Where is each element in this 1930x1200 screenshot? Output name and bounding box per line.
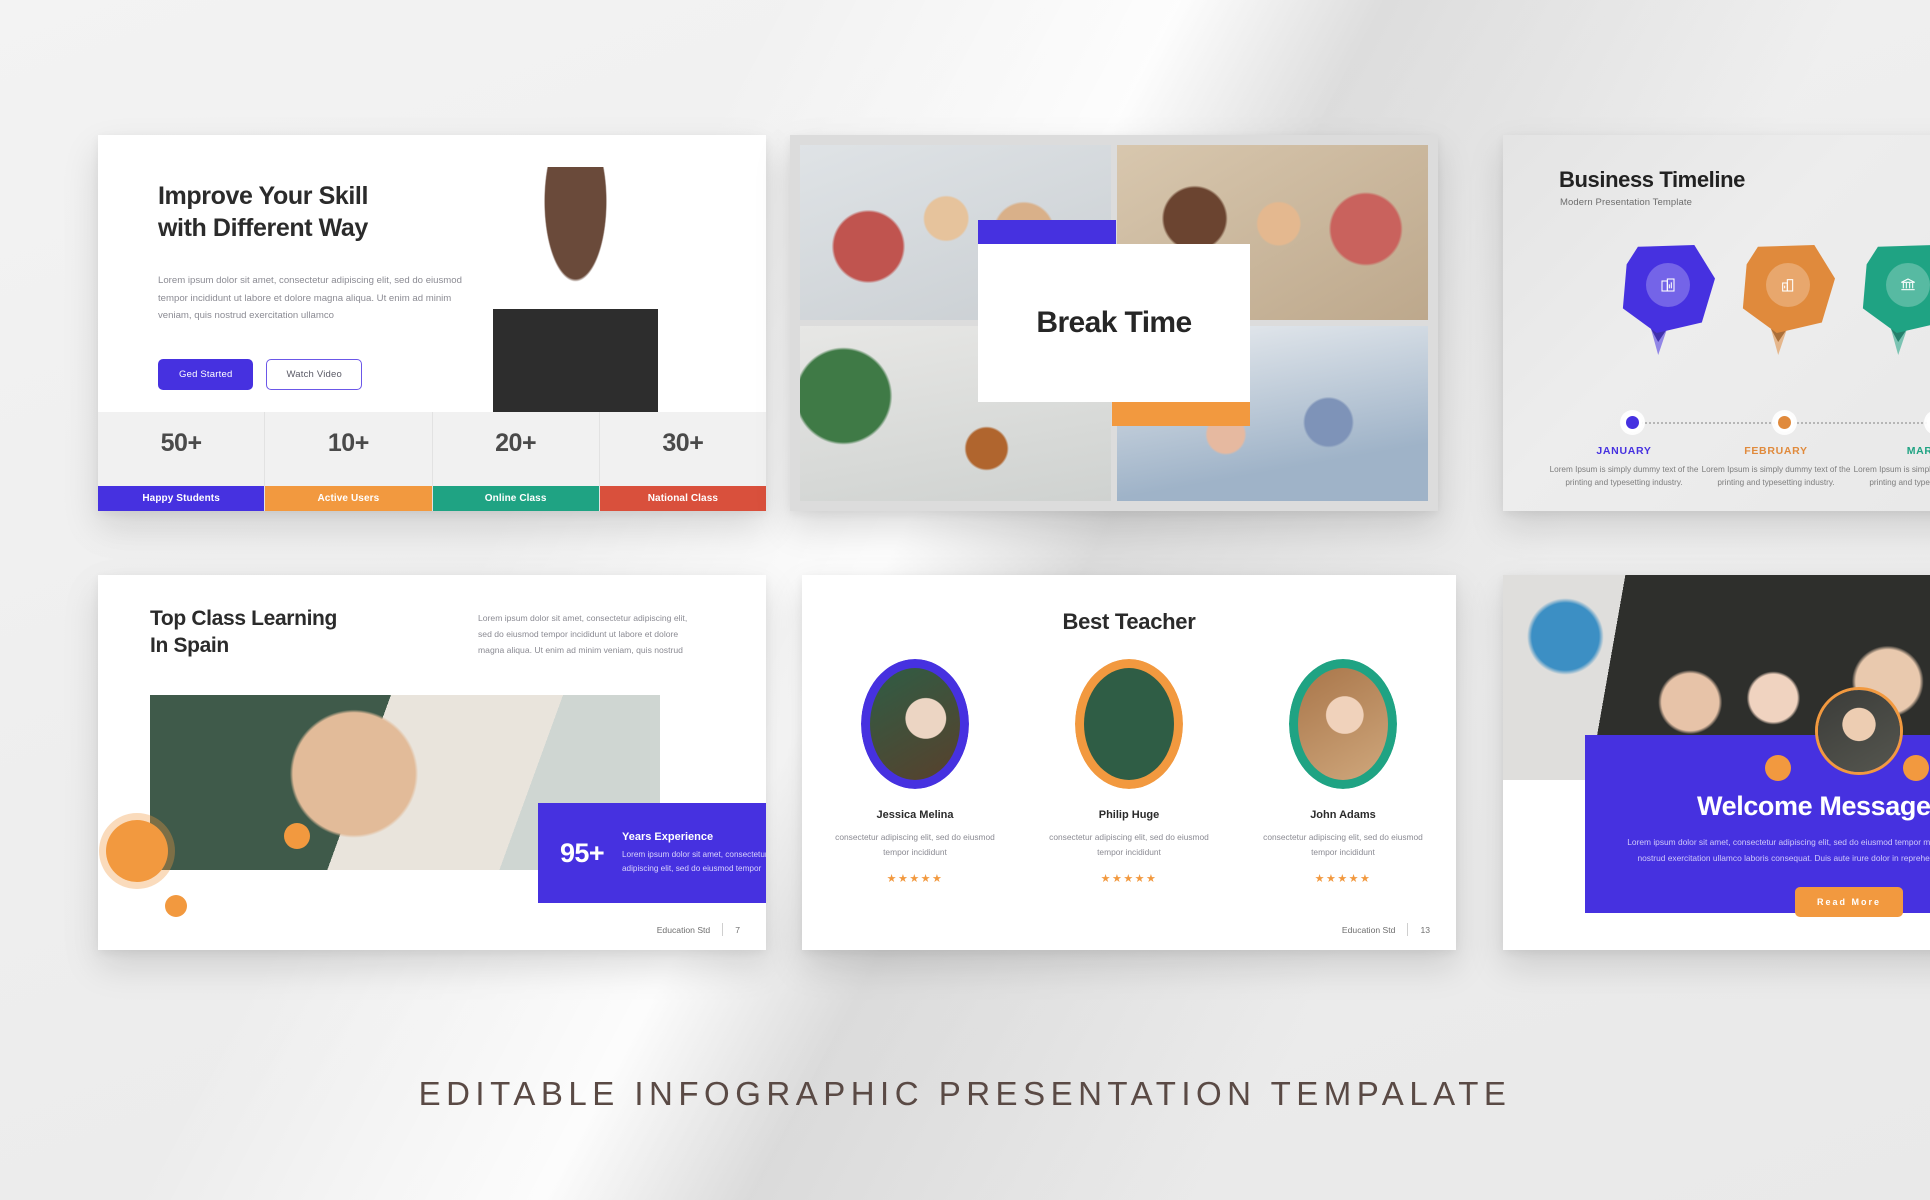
poster-stage: Improve Your Skill with Different Way Lo… [0,0,1930,1200]
teacher-avatar-photo [1084,668,1174,780]
teacher-name: John Adams [1263,809,1423,821]
experience-copy: Years Experience Lorem ipsum dolor sit a… [622,831,766,875]
footer-divider [722,923,723,936]
timeline-step-text: Lorem Ipsum is simply dummy text of the … [1853,463,1930,489]
spain-footer: Education Std 7 [657,923,740,936]
avatar-teacher [1815,687,1903,775]
teacher-avatar [1289,659,1397,789]
teacher-rating-stars: ★★★★★ [835,872,995,885]
building-chart-icon [1646,263,1690,307]
slide-skill-button-row: Ged Started Watch Video [158,359,362,390]
spain-footer-brand: Education Std [657,925,711,935]
ged-started-button[interactable]: Ged Started [158,359,253,390]
stat-cell: 20+Online Class [432,412,599,511]
welcome-title: Welcome Message [1697,791,1930,822]
slide-skill-title-line2: with Different Way [158,214,368,242]
slide-welcome-message[interactable]: Welcome Message Lorem ipsum dolor sit am… [1503,575,1930,950]
timeline-axis-dot[interactable] [1623,413,1642,432]
bank-icon [1886,263,1930,307]
decor-dot-right [1903,755,1929,781]
stat-cell: 50+Happy Students [98,412,264,511]
timeline-step-column: MARCHLorem Ipsum is simply dummy text of… [1853,445,1930,489]
timeline-pin-row [1503,245,1930,360]
timeline-step-text: Lorem Ipsum is simply dummy text of the … [1701,463,1851,489]
timeline-month: FEBRUARY [1701,445,1851,457]
teacher-card[interactable]: Jessica Melinaconsectetur adipiscing eli… [835,659,995,885]
break-time-card: Break Time [978,244,1250,402]
stat-label: Online Class [433,486,599,511]
slide-top-class-learning[interactable]: Top Class Learning In Spain Lorem ipsum … [98,575,766,950]
stat-value: 10+ [328,429,369,458]
timeline-step-column: FEBRUARYLorem Ipsum is simply dummy text… [1701,445,1851,489]
decor-circle-large [106,820,168,882]
break-time-title: Break Time [1036,306,1191,340]
teacher-name: Jessica Melina [835,809,995,821]
teacher-avatar [1075,659,1183,789]
timeline-step-column: JANUARYLorem Ipsum is simply dummy text … [1549,445,1699,489]
teacher-avatar-photo [1298,668,1388,780]
teacher-avatar-photo [870,668,960,780]
stat-label: National Class [600,486,766,511]
welcome-paragraph: Lorem ipsum dolor sit amet, consectetur … [1625,835,1930,867]
stat-label: Happy Students [98,486,264,511]
teacher-rating-stars: ★★★★★ [1263,872,1423,885]
experience-number: 95+ [560,838,604,869]
teacher-card[interactable]: Philip Hugeconsectetur adipiscing elit, … [1049,659,1209,885]
break-card-purple-tab [978,220,1116,244]
stat-label: Active Users [265,486,431,511]
decor-circle-small [165,895,187,917]
teacher-card-row: Jessica Melinaconsectetur adipiscing eli… [802,659,1456,885]
experience-text: Lorem ipsum dolor sit amet, consectetur … [622,848,766,875]
stat-value: 20+ [495,429,536,458]
teacher-description: consectetur adipiscing elit, sed do eius… [1263,830,1423,859]
slide-break-time[interactable]: Break Time [790,135,1438,511]
stat-value: 50+ [161,429,202,458]
slide-skill-paragraph: Lorem ipsum dolor sit amet, consectetur … [158,272,478,325]
spain-title-line1: Top Class Learning [150,607,337,630]
building-icon [1766,263,1810,307]
timeline-axis-dot[interactable] [1775,413,1794,432]
slide-skill-body: Improve Your Skill with Different Way Lo… [98,135,766,412]
read-more-button[interactable]: Read More [1795,887,1903,917]
teacher-footer: Education Std 13 [1342,923,1430,936]
stat-cell: 30+National Class [599,412,766,511]
experience-heading: Years Experience [622,831,766,843]
timeline-step-text: Lorem Ipsum is simply dummy text of the … [1549,463,1699,489]
timeline-axis [1503,413,1930,433]
slide-skill-title-line1: Improve Your Skill [158,182,368,210]
spain-paragraph: Lorem ipsum dolor sit amet, consectetur … [478,611,703,659]
years-experience-box: 95+ Years Experience Lorem ipsum dolor s… [538,803,766,903]
teacher-name: Philip Huge [1049,809,1209,821]
teacher-description: consectetur adipiscing elit, sed do eius… [835,830,995,859]
footer-divider [1407,923,1408,936]
teacher-footer-page: 13 [1420,925,1430,935]
teacher-footer-brand: Education Std [1342,925,1396,935]
timeline-pin[interactable] [1621,245,1715,333]
slide-best-teacher[interactable]: Best Teacher Jessica Melinaconsectetur a… [802,575,1456,950]
best-teacher-title: Best Teacher [802,609,1456,635]
timeline-subtitle: Modern Presentation Template [1560,197,1692,208]
timeline-pin[interactable] [1741,245,1835,333]
teacher-description: consectetur adipiscing elit, sed do eius… [1049,830,1209,859]
poster-caption: EDITABLE INFOGRAPHIC PRESENTATION TEMPAL… [0,1075,1930,1113]
spain-title: Top Class Learning In Spain [150,605,337,660]
slide-improve-your-skill[interactable]: Improve Your Skill with Different Way Lo… [98,135,766,511]
teacher-rating-stars: ★★★★★ [1049,872,1209,885]
spain-footer-page: 7 [735,925,740,935]
watch-video-button[interactable]: Watch Video [266,359,362,390]
teacher-avatar [861,659,969,789]
break-card-orange-tab [1112,402,1250,426]
stats-row: 50+Happy Students10+Active Users20+Onlin… [98,412,766,511]
stat-cell: 10+Active Users [264,412,431,511]
slide-skill-title: Improve Your Skill with Different Way [158,180,368,244]
stat-value: 30+ [662,429,703,458]
timeline-pin[interactable] [1861,245,1930,333]
slide-business-timeline[interactable]: Business Timeline Modern Presentation Te… [1503,135,1930,511]
teacher-card[interactable]: John Adamsconsectetur adipiscing elit, s… [1263,659,1423,885]
timeline-month: JANUARY [1549,445,1699,457]
hero-photo-woman-with-books [493,167,658,412]
spain-title-line2: In Spain [150,634,229,657]
timeline-month: MARCH [1853,445,1930,457]
decor-circle-medium [284,823,310,849]
timeline-title: Business Timeline [1559,167,1745,193]
decor-dot-left [1765,755,1791,781]
